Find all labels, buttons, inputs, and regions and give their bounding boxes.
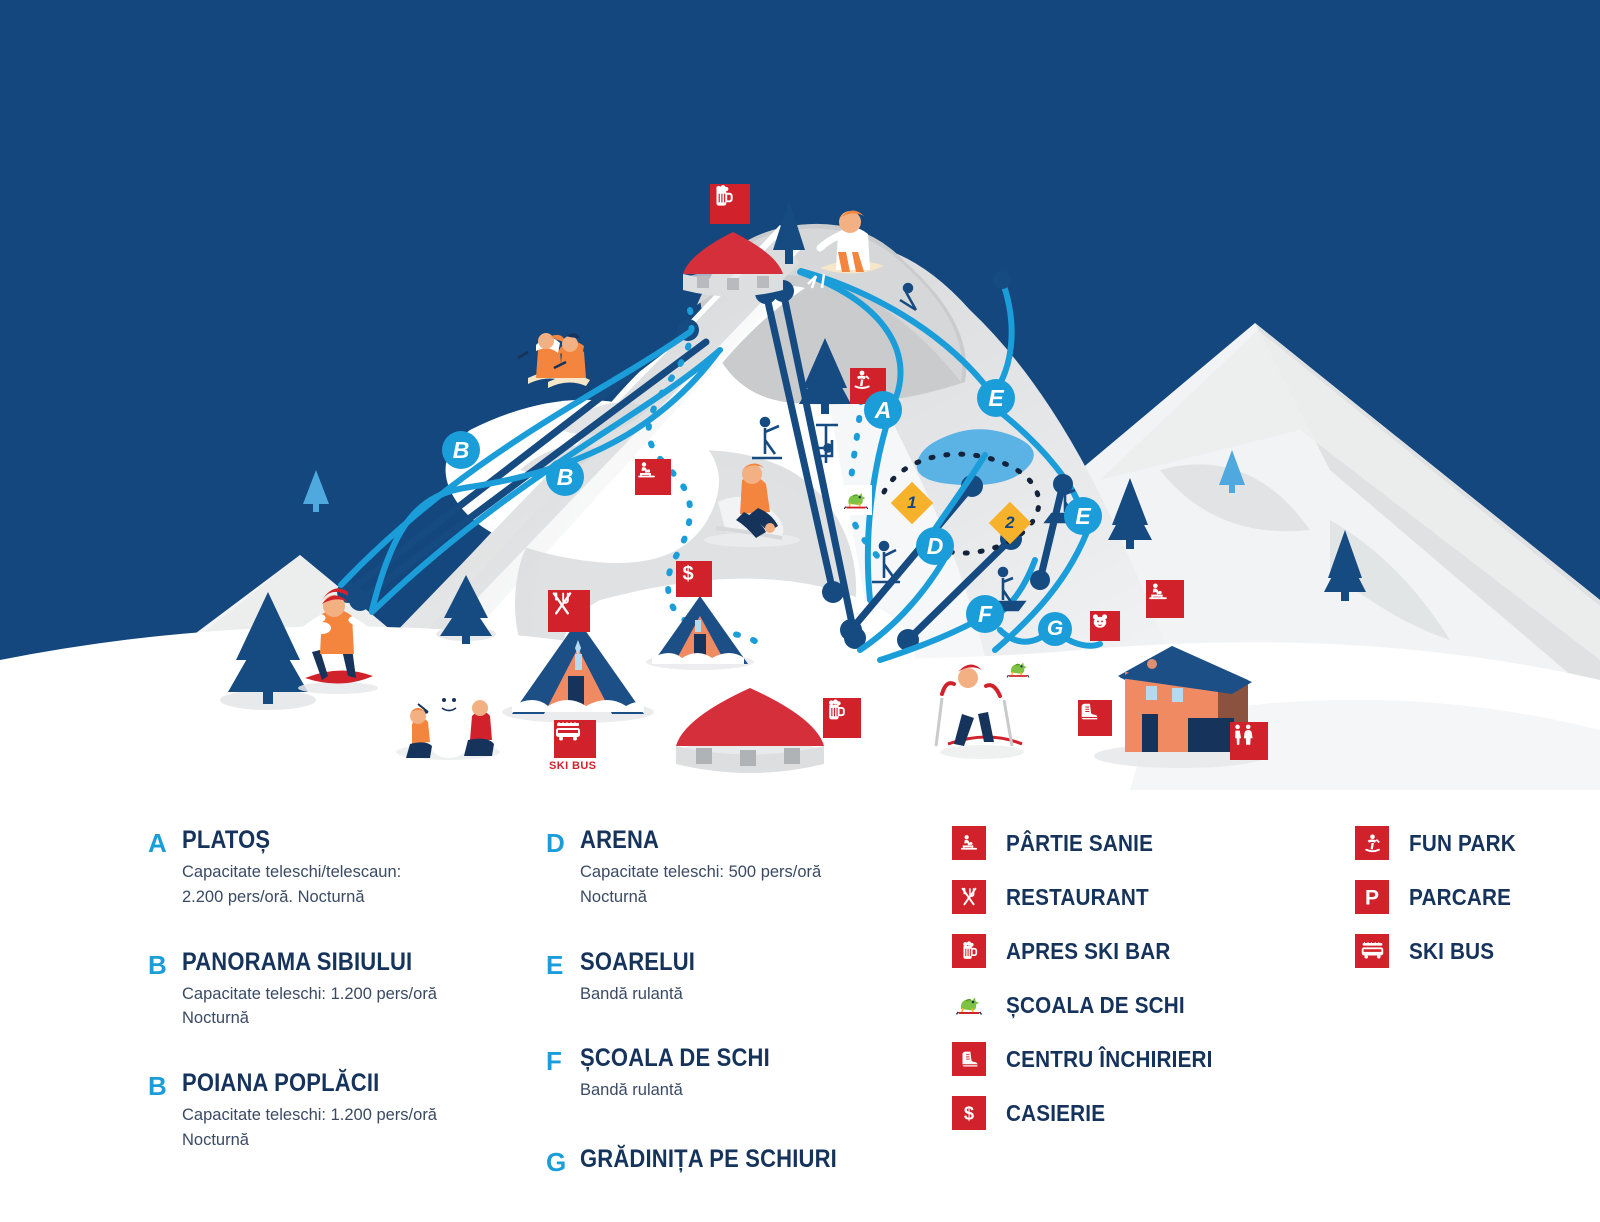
legend-lift-entry[interactable]: E SOARELUI Bandă rulantă <box>546 950 926 1007</box>
apres-ski-bar-icon[interactable] <box>823 698 861 738</box>
lift-letter-F: F <box>546 1046 562 1077</box>
lift-letter-E: E <box>546 950 563 981</box>
fun-park-icon <box>1355 826 1389 860</box>
legend-column-facilities-1: PÂRTIE SANIE RESTAURANT APRES SKI BAR ȘC… <box>952 790 1282 1150</box>
cashier-icon: $ <box>952 1096 986 1130</box>
facility-label-centru-inchirieri: CENTRU ÎNCHIRIERI <box>1006 1046 1213 1073</box>
restaurant-icon <box>952 880 986 914</box>
legend-facility-row[interactable]: $ CASIERIE <box>952 1096 1282 1130</box>
parking-icon: P <box>1355 880 1389 914</box>
lift-marker-F[interactable]: F <box>966 595 1004 633</box>
facility-label-apres-ski-bar: APRES SKI BAR <box>1006 938 1171 965</box>
lift-desc-arena: Capacitate teleschi: 500 pers/oră Noctur… <box>580 860 926 910</box>
restroom-icon[interactable] <box>1230 722 1268 760</box>
sledge-run-icon <box>952 826 986 860</box>
lift-name-gradinita-pe-schiuri: GRĂDINIȚA PE SCHIURI <box>580 1147 884 1172</box>
lift-marker-B[interactable]: B <box>546 458 584 496</box>
legend-facility-row[interactable]: PÂRTIE SANIE <box>952 826 1282 860</box>
legend: A PLATOȘ Capacitate teleschi/telescaun: … <box>0 790 1600 1222</box>
lift-letter-B: B <box>148 1071 167 1102</box>
legend-lift-entry[interactable]: B POIANA POPLĂCII Capacitate teleschi: 1… <box>148 1071 518 1153</box>
legend-lift-entry[interactable]: G GRĂDINIȚA PE SCHIURI <box>546 1147 926 1172</box>
lift-marker-E[interactable]: E <box>1064 497 1102 535</box>
legend-facility-row[interactable]: SKI BUS <box>1355 934 1600 968</box>
lift-desc-panorama-sibiului: Capacitate teleschi: 1.200 pers/oră Noct… <box>182 982 518 1032</box>
lift-name-panorama-sibiului: PANORAMA SIBIULUI <box>182 950 478 975</box>
restaurant-icon[interactable] <box>548 590 590 632</box>
lift-marker-B[interactable]: B <box>442 431 480 469</box>
legend-facility-row[interactable]: APRES SKI BAR <box>952 934 1282 968</box>
sledge-run-icon[interactable] <box>1146 580 1184 618</box>
legend-column-lifts-1: A PLATOȘ Capacitate teleschi/telescaun: … <box>148 790 518 1179</box>
legend-column-lifts-2: D ARENA Capacitate teleschi: 500 pers/or… <box>546 790 926 1198</box>
ski-rental-icon[interactable] <box>1078 700 1112 736</box>
lift-letter-G: G <box>546 1147 566 1178</box>
legend-facility-row[interactable]: CENTRU ÎNCHIRIERI <box>952 1042 1282 1076</box>
legend-column-facilities-2: FUN PARK P PARCARE SKI BUS <box>1355 790 1600 988</box>
map-illustration <box>0 0 1600 790</box>
lift-name-poiana-poplacii: POIANA POPLĂCII <box>182 1071 478 1096</box>
lift-name-soarelui: SOARELUI <box>580 950 884 975</box>
lift-letter-D: D <box>546 828 565 859</box>
lift-marker-G[interactable]: G <box>1038 612 1072 646</box>
ski-school-icon <box>952 988 986 1022</box>
legend-lift-entry[interactable]: F ȘCOALA DE SCHI Bandă rulantă <box>546 1046 926 1103</box>
lift-name-scoala-de-schi: ȘCOALA DE SCHI <box>580 1046 884 1071</box>
facility-label-partie-sanie: PÂRTIE SANIE <box>1006 830 1153 857</box>
legend-lift-entry[interactable]: A PLATOȘ Capacitate teleschi/telescaun: … <box>148 828 518 910</box>
svg-text:P: P <box>1365 887 1379 910</box>
lift-marker-E[interactable]: E <box>977 379 1015 417</box>
lift-marker-A[interactable]: A <box>864 391 902 429</box>
legend-facility-row[interactable]: P PARCARE <box>1355 880 1600 914</box>
lift-name-platos: PLATOȘ <box>182 828 478 853</box>
lift-desc-platos: Capacitate teleschi/telescaun: 2.200 per… <box>182 860 518 910</box>
legend-facility-row[interactable]: FUN PARK <box>1355 826 1600 860</box>
lift-marker-D[interactable]: D <box>916 527 954 565</box>
legend-lift-entry[interactable]: D ARENA Capacitate teleschi: 500 pers/or… <box>546 828 926 910</box>
lift-desc-soarelui: Bandă rulantă <box>580 982 926 1007</box>
legend-facility-row[interactable]: ȘCOALA DE SCHI <box>952 988 1282 1022</box>
legend-lift-entry[interactable]: B PANORAMA SIBIULUI Capacitate teleschi:… <box>148 950 518 1032</box>
sledge-run-icon[interactable] <box>635 459 671 495</box>
ski-bus-icon[interactable] <box>554 720 596 758</box>
facility-label-restaurant: RESTAURANT <box>1006 884 1149 911</box>
lift-letter-B: B <box>148 950 167 981</box>
slope-number-label: 1 <box>907 493 916 513</box>
facility-label-scoala-de-schi: ȘCOALA DE SCHI <box>1006 992 1185 1019</box>
ski-bus-caption: SKI BUS <box>549 760 596 772</box>
cashier-icon[interactable]: $ <box>676 561 712 597</box>
facility-label-parcare: PARCARE <box>1409 884 1511 911</box>
kids-club-icon[interactable] <box>1090 611 1120 641</box>
facility-label-fun-park: FUN PARK <box>1409 830 1516 857</box>
lift-desc-scoala-de-schi: Bandă rulantă <box>580 1078 926 1103</box>
ski-rental-icon <box>952 1042 986 1076</box>
svg-text:$: $ <box>682 563 693 585</box>
ski-bus-icon <box>1355 934 1389 968</box>
apres-ski-bar-icon[interactable] <box>710 184 750 224</box>
facility-label-casierie: CASIERIE <box>1006 1100 1105 1127</box>
lift-desc-poiana-poplacii: Capacitate teleschi: 1.200 pers/oră Noct… <box>182 1103 518 1153</box>
lift-letter-A: A <box>148 828 167 859</box>
ski-resort-map: B B A E E D F G 1 2 $ SKI BUS <box>0 0 1600 790</box>
apres-ski-bar-icon <box>952 934 986 968</box>
legend-facility-row[interactable]: RESTAURANT <box>952 880 1282 914</box>
lift-name-arena: ARENA <box>580 828 884 853</box>
slope-number-label: 2 <box>1005 513 1014 533</box>
svg-text:$: $ <box>964 1102 974 1123</box>
facility-label-ski-bus: SKI BUS <box>1409 938 1494 965</box>
